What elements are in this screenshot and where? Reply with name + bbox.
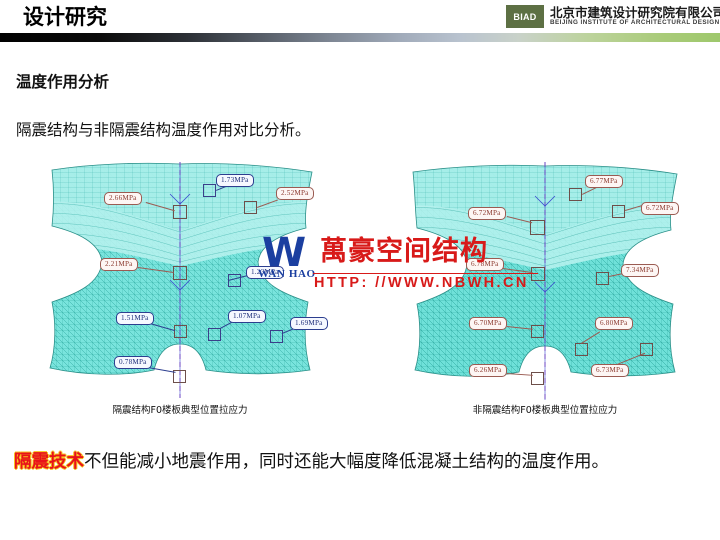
conclusion-rest: 不但能减小地震作用，同时还能大幅度降低混凝土结构的温度作用。 xyxy=(84,452,609,472)
company-name-en: BEIJING INSTITUTE OF ARCHITECTURAL DESIG… xyxy=(550,20,720,27)
stress-label: 1.51MPa xyxy=(116,312,154,325)
stress-label: 6.77MPa xyxy=(585,175,623,188)
conclusion-text: 隔震技术不但能减小地震作用，同时还能大幅度降低混凝土结构的温度作用。 xyxy=(14,448,609,473)
biad-mark-label: BIAD xyxy=(513,12,536,22)
stress-label: 6.26MPa xyxy=(469,364,507,377)
company-name-cn: 北京市建筑设计研究院有限公司 xyxy=(550,6,720,20)
figure-caption: 非隔震结构F0楼板典型位置拉应力 xyxy=(385,402,705,416)
stress-label: 6.80MPa xyxy=(595,317,633,330)
figure-caption: 隔震结构F0楼板典型位置拉应力 xyxy=(20,402,340,416)
node-marker xyxy=(531,267,545,281)
stress-label: 6.73MPa xyxy=(591,364,629,377)
stress-label: 6.70MPa xyxy=(469,317,507,330)
section-lede: 隔震结构与非隔震结构温度作用对比分析。 xyxy=(16,118,311,140)
stress-label: 1.69MPa xyxy=(290,317,328,330)
node-marker xyxy=(173,266,187,280)
node-marker xyxy=(531,325,544,338)
stress-label: 1.07MPa xyxy=(228,310,266,323)
biad-company-names: 北京市建筑设计研究院有限公司 BEIJING INSTITUTE OF ARCH… xyxy=(550,6,720,28)
node-marker xyxy=(173,205,187,219)
page-header: 设计研究 BIAD 北京市建筑设计研究院有限公司 BEIJING INSTITU… xyxy=(0,0,720,42)
header-title-block: 设计研究 xyxy=(0,0,128,34)
figure-non-isolated-mesh xyxy=(385,162,705,402)
header-gradient-bar xyxy=(0,33,720,42)
node-marker xyxy=(612,205,625,218)
stress-label: 2.66MPa xyxy=(104,192,142,205)
stress-label: 6.72MPa xyxy=(641,202,679,215)
conclusion-highlight: 隔震技术 xyxy=(14,452,84,472)
page-title: 设计研究 xyxy=(21,7,107,28)
node-marker xyxy=(270,330,283,343)
node-marker xyxy=(244,201,257,214)
node-marker xyxy=(596,272,609,285)
section-title: 温度作用分析 xyxy=(16,70,109,92)
node-marker xyxy=(575,343,588,356)
node-marker xyxy=(174,325,187,338)
node-marker xyxy=(208,328,221,341)
stress-label: 1.73MPa xyxy=(216,174,254,187)
figures-area: 1.73MPa 2.52MPa 2.66MPa 2.21MPa 1.23MPa … xyxy=(0,162,720,432)
stress-label: 2.52MPa xyxy=(276,187,314,200)
node-marker xyxy=(530,220,545,235)
stress-label: 6.72MPa xyxy=(468,207,506,220)
stress-label: 7.34MPa xyxy=(621,264,659,277)
stress-label: 6.78MPa xyxy=(466,258,504,271)
stress-label: 2.21MPa xyxy=(100,258,138,271)
node-marker xyxy=(203,184,216,197)
node-marker xyxy=(569,188,582,201)
biad-logo: BIAD 北京市建筑设计研究院有限公司 BEIJING INSTITUTE OF… xyxy=(506,5,720,28)
figure-non-isolated: 6.77MPa 6.72MPa 6.72MPa 6.78MPa 7.34MPa … xyxy=(385,162,705,432)
stress-label: 1.23MPa xyxy=(246,266,284,279)
figure-isolated: 1.73MPa 2.52MPa 2.66MPa 2.21MPa 1.23MPa … xyxy=(20,162,340,432)
biad-mark-icon: BIAD xyxy=(506,5,544,28)
stress-label: 0.78MPa xyxy=(114,356,152,369)
